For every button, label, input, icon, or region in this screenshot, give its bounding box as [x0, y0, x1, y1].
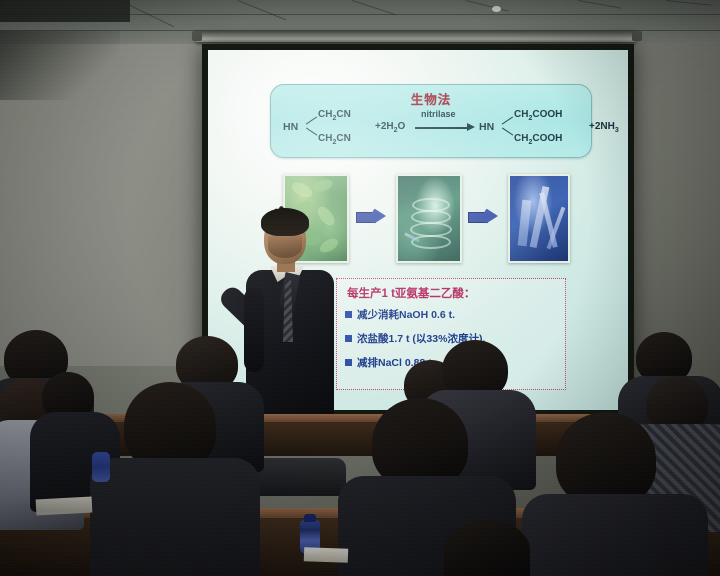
reactant-core-label: HN — [283, 121, 298, 133]
lecture-hall-scene: 生物法 HN CH2CN CH2CN +2H2O nitrilase HN CH… — [0, 0, 720, 576]
process-arrow-2 — [468, 207, 498, 225]
ceiling-light — [492, 6, 501, 12]
roller-cap-right — [632, 31, 642, 41]
reactant-branch-bottom: CH2CN — [318, 133, 351, 146]
presenter-hair — [261, 208, 309, 236]
bond-top-left — [306, 116, 318, 124]
savings-heading: 每生产1 t亚氨基二乙酸： — [347, 285, 475, 301]
water-bottle[interactable] — [92, 452, 110, 482]
bottle-cap[interactable] — [304, 514, 316, 522]
bond-bottom-right — [502, 127, 514, 135]
roller-cap-left — [192, 31, 202, 41]
reaction-arrow-shaft — [415, 127, 469, 129]
reactant-branch-top: CH2CN — [318, 109, 351, 122]
reaction-equation-box: 生物法 HN CH2CN CH2CN +2H2O nitrilase HN CH… — [270, 84, 592, 158]
bond-top-right — [502, 116, 514, 124]
slide-title: 生物法 — [271, 89, 591, 108]
process-arrow-1 — [356, 207, 386, 225]
process-image-reactor — [396, 174, 462, 263]
ceiling-shadow-corner — [0, 0, 130, 22]
reaction-arrow-head — [467, 123, 475, 131]
bond-bottom-left — [306, 127, 318, 135]
process-image-crystal — [508, 174, 570, 263]
reagent-water-label: +2H2O — [375, 121, 405, 134]
papers-on-desk[interactable] — [36, 497, 93, 516]
papers-on-desk[interactable] — [304, 547, 348, 563]
product-core-label: HN — [479, 121, 494, 133]
equation-row: HN CH2CN CH2CN +2H2O nitrilase HN CH2COO… — [271, 107, 591, 155]
product-branch-bottom: CH2COOH — [514, 133, 562, 146]
ceiling-shadow — [0, 30, 120, 100]
byproduct-ammonia-label: +2NH3 — [589, 121, 619, 134]
savings-item-1: 减少消耗NaOH 0.6 t. — [357, 307, 455, 322]
product-branch-top: CH2COOH — [514, 109, 562, 122]
presenter-right-arm — [244, 288, 264, 372]
catalyst-label: nitrilase — [421, 109, 456, 119]
projector-screen-roller — [196, 30, 636, 42]
presenter-face-shadow — [268, 236, 302, 258]
